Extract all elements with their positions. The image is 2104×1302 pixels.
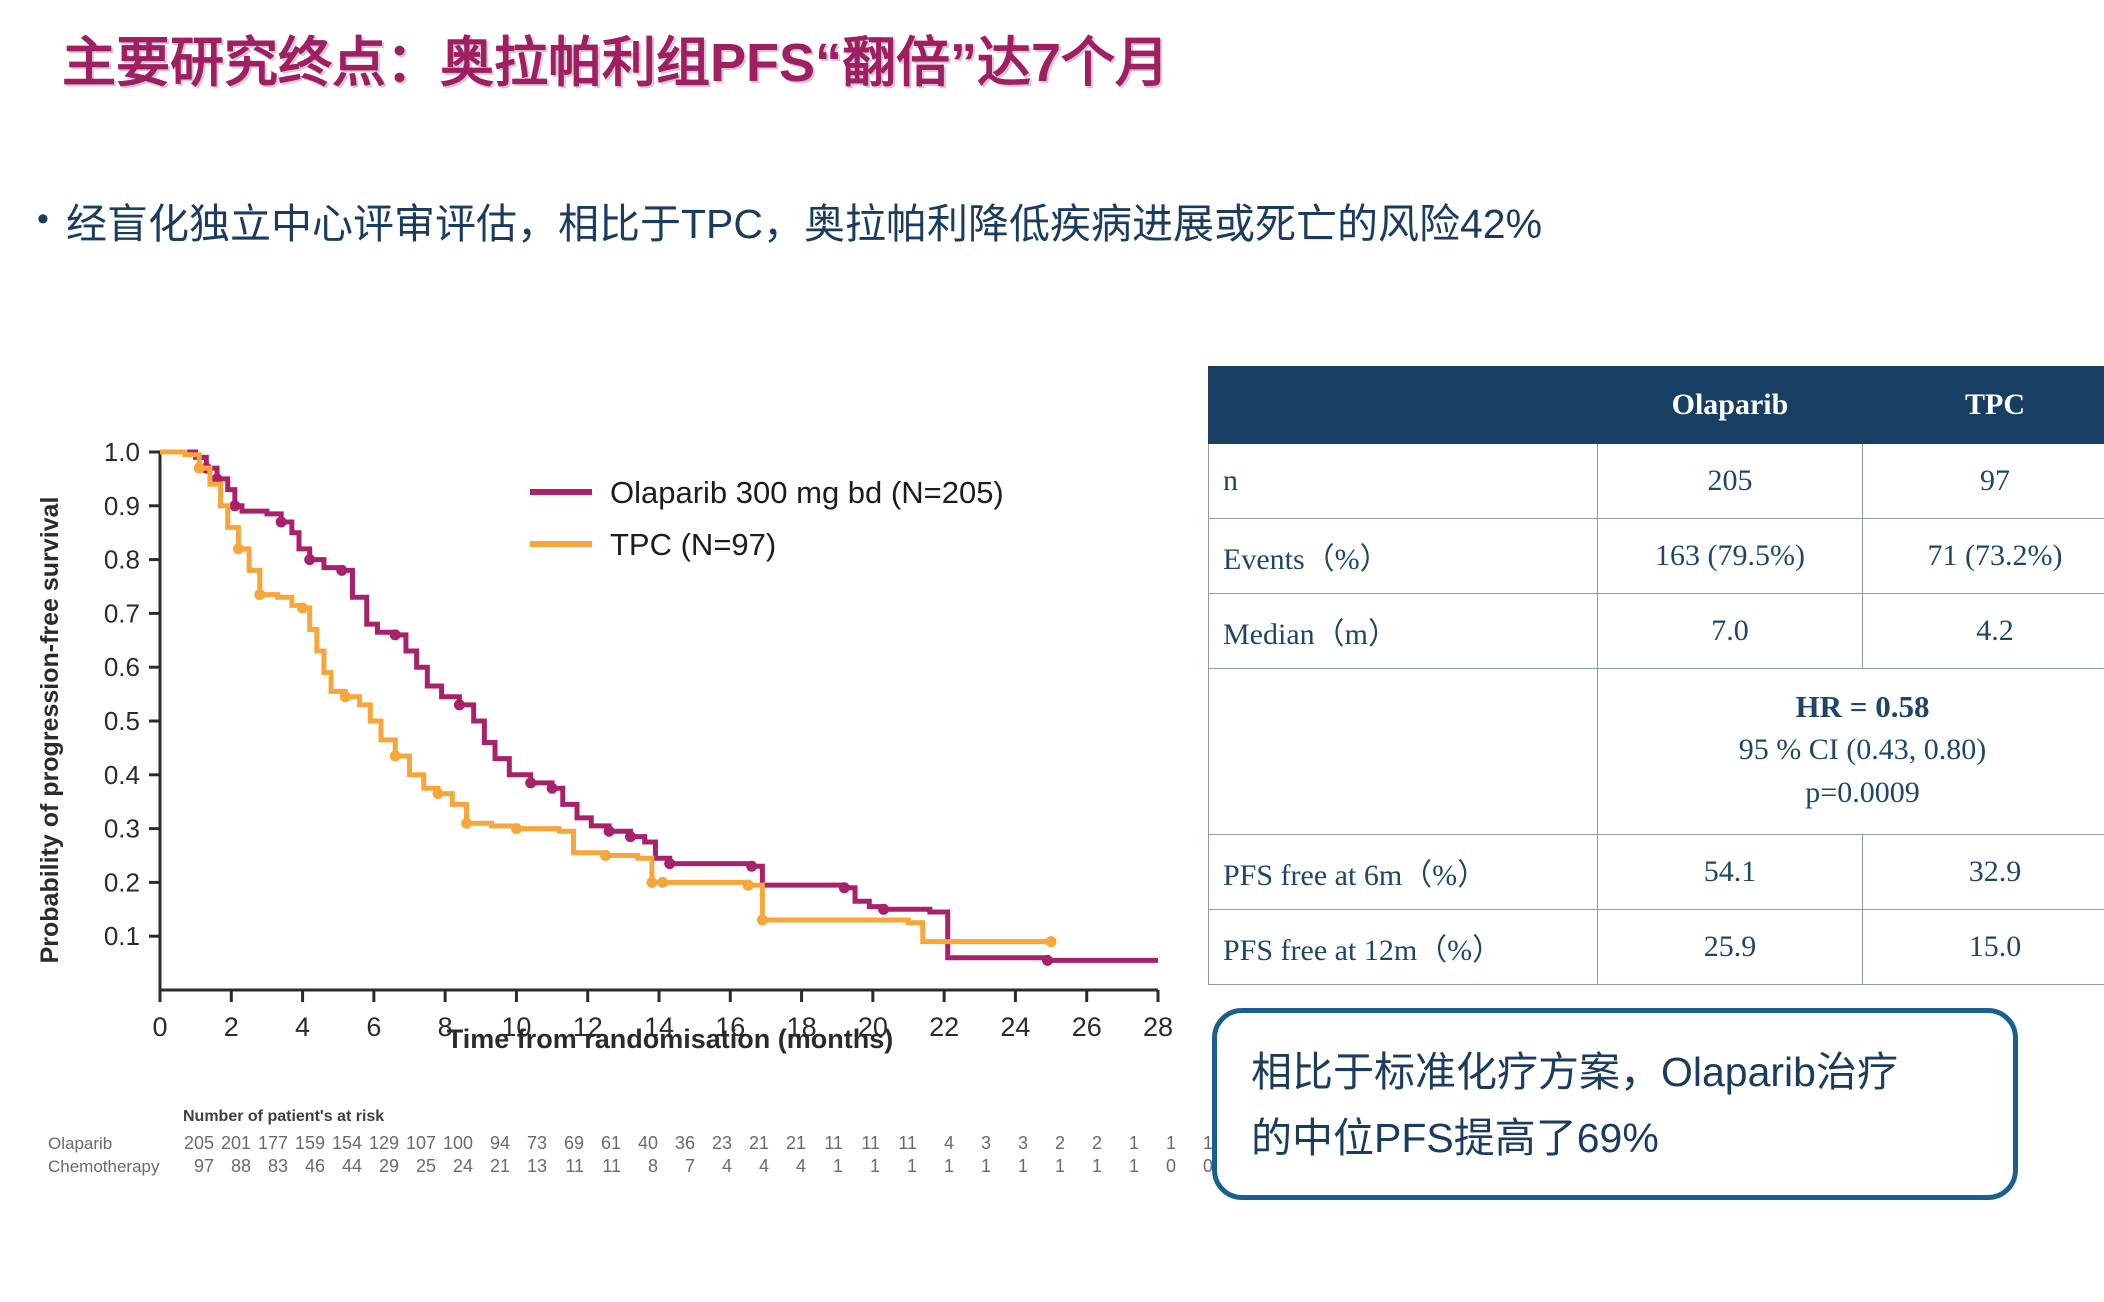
table-row-statistics: HR = 0.58 95 % CI (0.43, 0.80) p=0.0009 bbox=[1209, 669, 2104, 835]
risk-value: 1 bbox=[883, 1156, 917, 1177]
risk-value: 21 bbox=[735, 1133, 769, 1154]
y-tick-label: 0.2 bbox=[104, 867, 140, 897]
y-tick-label: 0.6 bbox=[104, 652, 140, 682]
risk-value: 1 bbox=[920, 1156, 954, 1177]
y-tick-label: 0.9 bbox=[104, 491, 140, 521]
table-row: Median（m） 7.0 4.2 bbox=[1209, 594, 2104, 669]
callout-line-2: 的中位PFS提高了69% bbox=[1251, 1105, 1979, 1171]
risk-value: 159 bbox=[291, 1133, 325, 1154]
y-tick-label: 0.5 bbox=[104, 706, 140, 736]
censor-marker bbox=[878, 904, 889, 915]
risk-value: 83 bbox=[254, 1156, 288, 1177]
cell-hazard-ratio: HR = 0.58 95 % CI (0.43, 0.80) p=0.0009 bbox=[1598, 669, 2104, 835]
censor-marker bbox=[390, 629, 401, 640]
risk-value: 36 bbox=[661, 1133, 695, 1154]
row-label-n: n bbox=[1209, 444, 1598, 519]
y-tick-label: 0.3 bbox=[104, 814, 140, 844]
chart-legend: Olaparib 300 mg bd (N=205)TPC (N=97) bbox=[530, 475, 1004, 562]
risk-value: 73 bbox=[513, 1133, 547, 1154]
risk-value: 2 bbox=[1068, 1133, 1102, 1154]
risk-value: 3 bbox=[957, 1133, 991, 1154]
cell-n-olaparib: 205 bbox=[1598, 444, 1863, 519]
callout-line-1: 相比于标准化疗方案，Olaparib治疗 bbox=[1251, 1039, 1979, 1105]
row-label-median: Median（m） bbox=[1209, 594, 1598, 669]
risk-value: 1 bbox=[1031, 1156, 1065, 1177]
cell-pfs6m-tpc: 32.9 bbox=[1863, 835, 2104, 910]
x-tick-label: 26 bbox=[1072, 1012, 1102, 1042]
risk-value: 3 bbox=[994, 1133, 1028, 1154]
risk-value: 2 bbox=[1031, 1133, 1065, 1154]
risk-value: 29 bbox=[365, 1156, 399, 1177]
table-row: PFS free at 12m（%） 25.9 15.0 bbox=[1209, 910, 2104, 985]
legend-label: Olaparib 300 mg bd (N=205) bbox=[610, 475, 1004, 510]
censor-marker bbox=[336, 565, 347, 576]
risk-value: 1 bbox=[1105, 1133, 1139, 1154]
censor-marker bbox=[657, 877, 668, 888]
row-label-pfs-12m: PFS free at 12m（%） bbox=[1209, 910, 1598, 985]
censor-marker bbox=[390, 750, 401, 761]
x-tick-label: 28 bbox=[1143, 1012, 1173, 1042]
censor-marker bbox=[233, 543, 244, 554]
risk-row-label: Chemotherapy bbox=[48, 1157, 180, 1177]
risk-value: 100 bbox=[439, 1133, 473, 1154]
censor-marker bbox=[194, 463, 205, 474]
censor-marker bbox=[229, 500, 240, 511]
y-tick-label: 0.4 bbox=[104, 760, 140, 790]
risk-value: 25 bbox=[402, 1156, 436, 1177]
risk-value: 4 bbox=[920, 1133, 954, 1154]
risk-value: 11 bbox=[883, 1133, 917, 1154]
risk-value: 46 bbox=[291, 1156, 325, 1177]
censor-marker bbox=[511, 823, 522, 834]
censor-marker bbox=[1042, 955, 1053, 966]
table-row: n 205 97 bbox=[1209, 444, 2104, 519]
risk-value: 7 bbox=[661, 1156, 695, 1177]
risk-value: 1 bbox=[1105, 1156, 1139, 1177]
chart-svg: Probability of progression-free survival… bbox=[30, 430, 1190, 1070]
risk-value: 11 bbox=[550, 1156, 584, 1177]
bullet-text: 经盲化独立中心评审评估，相比于TPC，奥拉帕利降低疾病进展或死亡的风险42% bbox=[66, 201, 1542, 247]
table-header-olaparib: Olaparib bbox=[1598, 367, 1863, 444]
x-tick-label: 24 bbox=[1000, 1012, 1030, 1042]
y-tick-label: 1.0 bbox=[104, 437, 140, 467]
y-tick-label: 0.7 bbox=[104, 598, 140, 628]
row-label-events: Events（%） bbox=[1209, 519, 1598, 594]
p-value: p=0.0009 bbox=[1608, 772, 2104, 815]
table-header-tpc: TPC bbox=[1863, 367, 2104, 444]
risk-value: 23 bbox=[698, 1133, 732, 1154]
cell-pfs12m-tpc: 15.0 bbox=[1863, 910, 2104, 985]
risk-value: 8 bbox=[624, 1156, 658, 1177]
censor-marker bbox=[664, 858, 675, 869]
risk-value: 4 bbox=[698, 1156, 732, 1177]
risk-value: 21 bbox=[476, 1156, 510, 1177]
risk-value: 1 bbox=[957, 1156, 991, 1177]
censor-marker bbox=[525, 777, 536, 788]
page-title: 主要研究终点：奥拉帕利组PFS“翻倍”达7个月 bbox=[62, 18, 1169, 97]
x-tick-label: 2 bbox=[224, 1012, 239, 1042]
censor-marker bbox=[757, 915, 768, 926]
censor-marker bbox=[433, 788, 444, 799]
x-tick-label: 22 bbox=[929, 1012, 959, 1042]
risk-value: 107 bbox=[402, 1133, 436, 1154]
confidence-interval-value: 95 % CI (0.43, 0.80) bbox=[1608, 729, 2104, 772]
risk-value: 88 bbox=[217, 1156, 251, 1177]
row-label-stats bbox=[1209, 669, 1598, 835]
censor-marker bbox=[1046, 936, 1057, 947]
cell-pfs6m-olaparib: 54.1 bbox=[1598, 835, 1863, 910]
conclusion-callout: 相比于标准化疗方案，Olaparib治疗 的中位PFS提高了69% bbox=[1212, 1008, 2018, 1200]
censor-marker bbox=[600, 850, 611, 861]
censor-marker bbox=[340, 691, 351, 702]
risk-value: 1 bbox=[846, 1156, 880, 1177]
x-tick-label: 4 bbox=[295, 1012, 310, 1042]
risk-value: 1 bbox=[1142, 1133, 1176, 1154]
censor-marker bbox=[254, 589, 265, 600]
censor-marker bbox=[297, 603, 308, 614]
risk-table-title: Number of patient's at risk bbox=[183, 1108, 384, 1126]
risk-row-olaparib: Olaparib20520117715915412910710094736961… bbox=[48, 1133, 1253, 1154]
censor-marker bbox=[604, 826, 615, 837]
cell-n-tpc: 97 bbox=[1863, 444, 2104, 519]
y-axis-ticks: 0.10.20.30.40.50.60.70.80.91.0 bbox=[104, 437, 160, 951]
risk-row-chemotherapy: Chemotherapy9788834644292524211311118744… bbox=[48, 1156, 1253, 1177]
bullet-paragraph: •经盲化独立中心评审评估，相比于TPC，奥拉帕利降低疾病进展或死亡的风险42% bbox=[20, 198, 1580, 250]
risk-value: 205 bbox=[180, 1133, 214, 1154]
legend-label: TPC (N=97) bbox=[610, 527, 776, 562]
censor-marker bbox=[461, 818, 472, 829]
y-tick-label: 0.8 bbox=[104, 545, 140, 575]
x-tick-label: 6 bbox=[366, 1012, 381, 1042]
risk-value: 24 bbox=[439, 1156, 473, 1177]
risk-value: 129 bbox=[365, 1133, 399, 1154]
risk-value: 94 bbox=[476, 1133, 510, 1154]
cell-pfs12m-olaparib: 25.9 bbox=[1598, 910, 1863, 985]
x-axis-label: Time from randomisation (months) bbox=[447, 1024, 894, 1054]
kaplan-meier-chart: Probability of progression-free survival… bbox=[30, 430, 1190, 1070]
risk-value: 97 bbox=[180, 1156, 214, 1177]
results-table: Olaparib TPC n 205 97 Events（%） 163 (79.… bbox=[1208, 366, 2104, 985]
row-label-pfs-6m: PFS free at 6m（%） bbox=[1209, 835, 1598, 910]
table-header-blank bbox=[1209, 367, 1598, 444]
censor-marker bbox=[276, 516, 287, 527]
censor-marker bbox=[547, 783, 558, 794]
cell-median-tpc: 4.2 bbox=[1863, 594, 2104, 669]
cell-events-olaparib: 163 (79.5%) bbox=[1598, 519, 1863, 594]
risk-value: 1 bbox=[1068, 1156, 1102, 1177]
risk-value: 11 bbox=[809, 1133, 843, 1154]
censor-marker bbox=[746, 861, 757, 872]
censor-marker bbox=[304, 554, 315, 565]
risk-row-label: Olaparib bbox=[48, 1134, 180, 1154]
cell-median-olaparib: 7.0 bbox=[1598, 594, 1863, 669]
table-row: PFS free at 6m（%） 54.1 32.9 bbox=[1209, 835, 2104, 910]
censor-marker bbox=[743, 880, 754, 891]
risk-value: 1 bbox=[809, 1156, 843, 1177]
risk-value: 11 bbox=[846, 1133, 880, 1154]
risk-value: 69 bbox=[550, 1133, 584, 1154]
hazard-ratio-value: HR = 0.58 bbox=[1608, 685, 2104, 729]
risk-value: 177 bbox=[254, 1133, 288, 1154]
x-tick-label: 0 bbox=[152, 1012, 167, 1042]
cell-events-tpc: 71 (73.2%) bbox=[1863, 519, 2104, 594]
table-header-row: Olaparib TPC bbox=[1209, 367, 2104, 444]
risk-value: 11 bbox=[587, 1156, 621, 1177]
risk-value: 61 bbox=[587, 1133, 621, 1154]
risk-value: 21 bbox=[772, 1133, 806, 1154]
censor-marker bbox=[839, 882, 850, 893]
censor-marker bbox=[454, 699, 465, 710]
risk-value: 44 bbox=[328, 1156, 362, 1177]
table-row: Events（%） 163 (79.5%) 71 (73.2%) bbox=[1209, 519, 2104, 594]
risk-value: 1 bbox=[994, 1156, 1028, 1177]
y-axis-label: Probability of progression-free survival bbox=[36, 497, 64, 964]
censor-marker bbox=[646, 877, 657, 888]
risk-value: 1 bbox=[1179, 1133, 1213, 1154]
bullet-marker-icon: • bbox=[20, 198, 66, 242]
risk-value: 40 bbox=[624, 1133, 658, 1154]
risk-value: 4 bbox=[735, 1156, 769, 1177]
risk-value: 0 bbox=[1179, 1156, 1213, 1177]
y-tick-label: 0.1 bbox=[104, 921, 140, 951]
risk-value: 13 bbox=[513, 1156, 547, 1177]
risk-value: 154 bbox=[328, 1133, 362, 1154]
risk-value: 0 bbox=[1142, 1156, 1176, 1177]
risk-value: 201 bbox=[217, 1133, 251, 1154]
censor-marker bbox=[625, 831, 636, 842]
risk-value: 4 bbox=[772, 1156, 806, 1177]
